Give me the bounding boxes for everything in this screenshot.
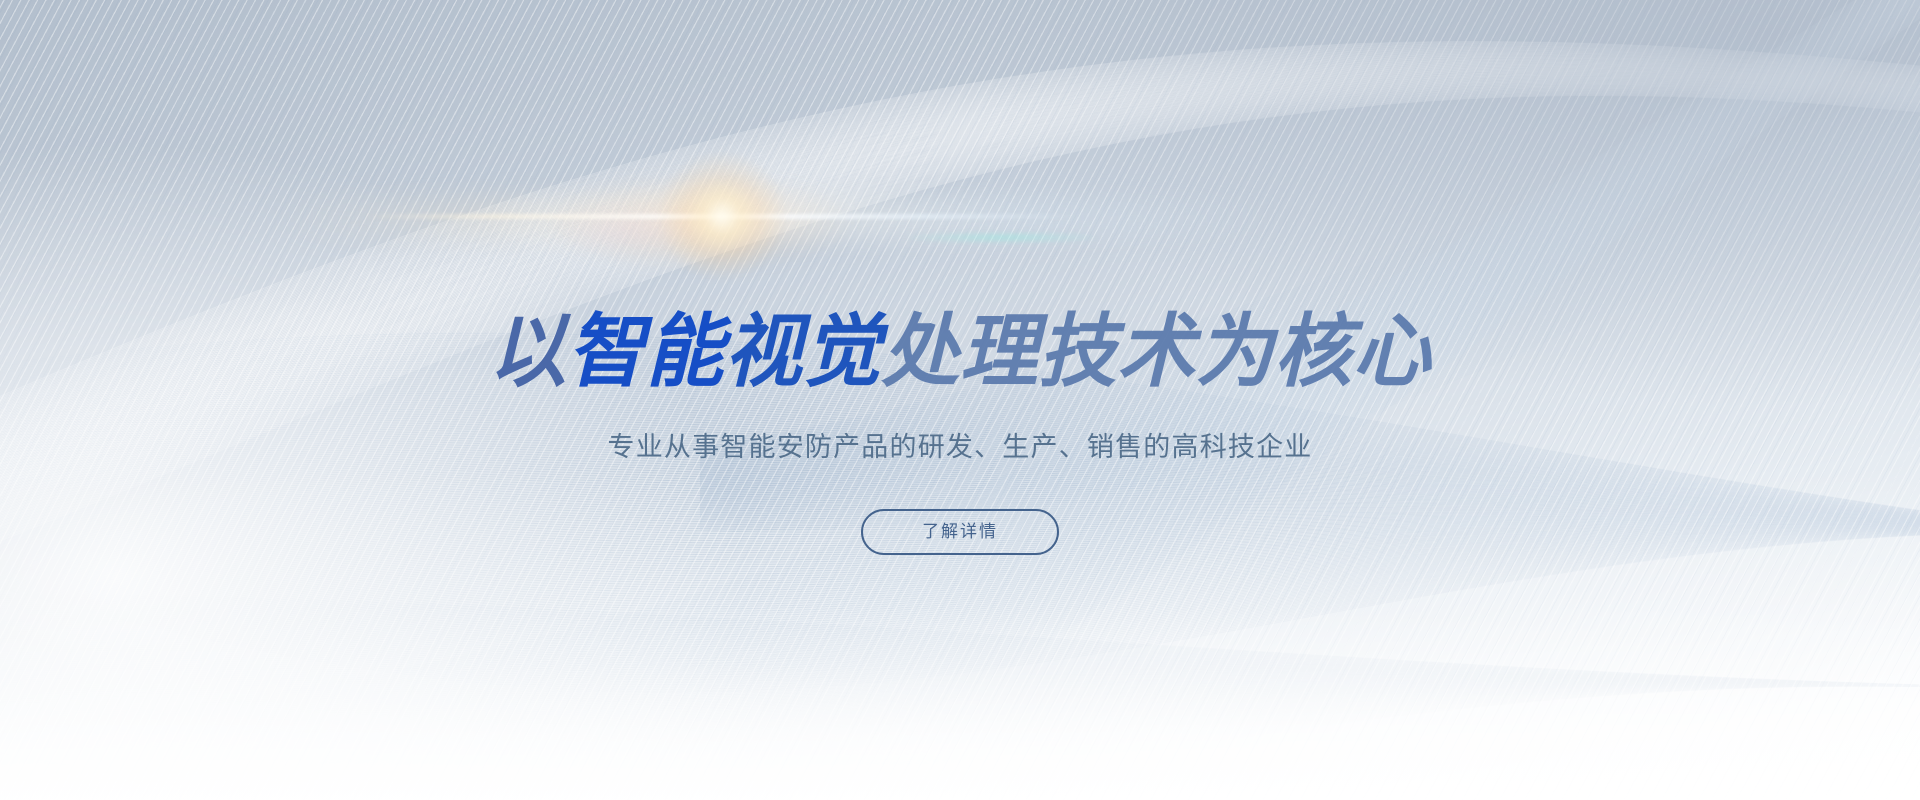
headline-segment-1: 以 — [489, 312, 568, 392]
hero-headline: 以智能视觉处理技术为核心 — [29, 312, 1891, 392]
headline-segment-3: 视觉 — [724, 312, 881, 392]
learn-more-button[interactable]: 了解详情 — [861, 509, 1059, 555]
hero-subtitle: 专业从事智能安防产品的研发、生产、销售的高科技企业 — [0, 431, 1920, 463]
cta-container: 了解详情 — [0, 509, 1920, 555]
headline-segment-4: 处理技术为核心 — [881, 312, 1431, 392]
hero-banner: 以智能视觉处理技术为核心 专业从事智能安防产品的研发、生产、销售的高科技企业 了… — [0, 0, 1920, 800]
headline-segment-2: 智能 — [567, 312, 724, 392]
hero-content: 以智能视觉处理技术为核心 专业从事智能安防产品的研发、生产、销售的高科技企业 了… — [0, 0, 1920, 800]
